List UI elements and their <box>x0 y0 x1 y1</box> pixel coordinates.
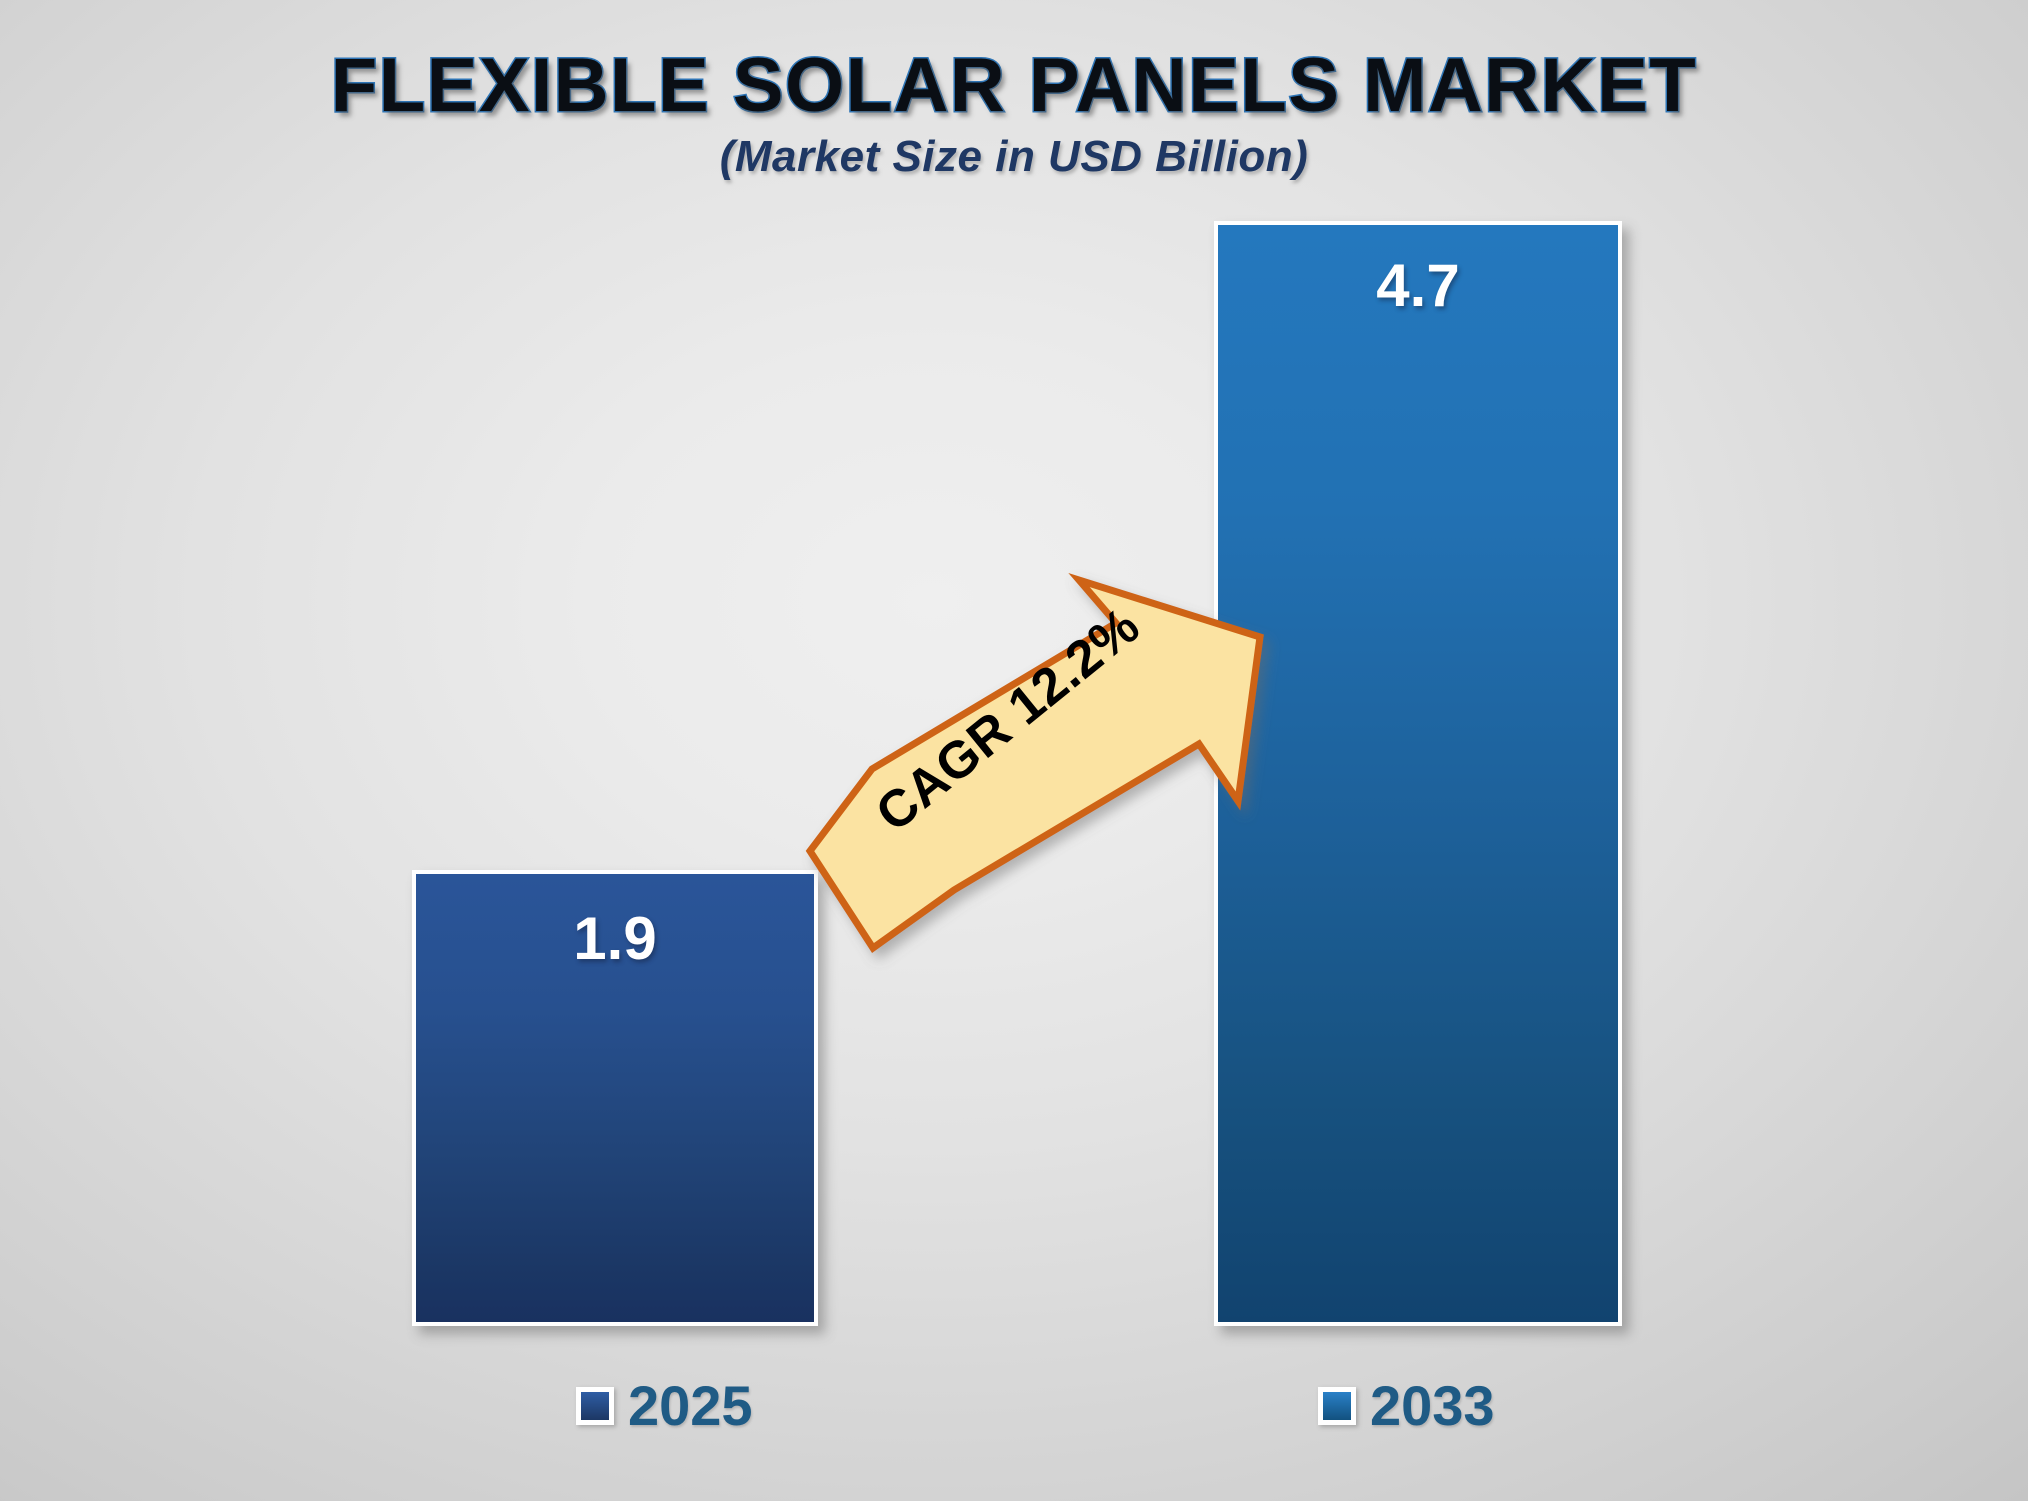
cagr-growth-arrow-icon <box>810 580 1270 960</box>
title-block: FLEXIBLE SOLAR PANELS MARKET (Market Siz… <box>0 48 2028 182</box>
bar-2033[interactable]: 4.7 <box>1214 221 1622 1326</box>
legend-item-2033[interactable]: 2033 <box>1318 1378 1495 1434</box>
legend-label-2025: 2025 <box>628 1378 753 1434</box>
legend-item-2025[interactable]: 2025 <box>576 1378 753 1434</box>
chart-title: FLEXIBLE SOLAR PANELS MARKET <box>0 48 2028 124</box>
legend-swatch-2033-icon <box>1318 1387 1356 1425</box>
bar-2033-value-label: 4.7 <box>1218 251 1618 320</box>
bar-2025-fill: 1.9 <box>416 874 814 1322</box>
legend-label-2033: 2033 <box>1370 1378 1495 1434</box>
bar-2025-value-label: 1.9 <box>416 904 814 973</box>
legend-swatch-2025-icon <box>576 1387 614 1425</box>
chart-subtitle: (Market Size in USD Billion) <box>0 132 2028 182</box>
chart-canvas: FLEXIBLE SOLAR PANELS MARKET (Market Siz… <box>0 0 2028 1501</box>
bar-2033-fill: 4.7 <box>1218 225 1618 1322</box>
bar-2025[interactable]: 1.9 <box>412 870 818 1326</box>
cagr-label: CAGR 12.2% <box>857 590 1159 851</box>
